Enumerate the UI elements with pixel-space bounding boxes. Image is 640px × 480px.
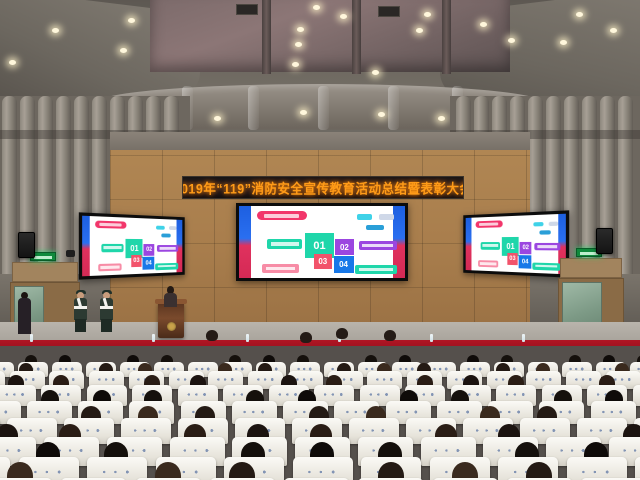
presenter-at-podium (164, 286, 177, 306)
ceiling-beam (352, 0, 361, 74)
audience-row (0, 466, 640, 480)
security-camera (66, 250, 75, 257)
ceiling-downlight (120, 48, 127, 53)
ceiling-downlight (9, 60, 16, 65)
ceiling-downlight (480, 22, 487, 27)
slide-block-04: 04 (334, 256, 354, 273)
presentation-slide: 01 02 03 04 (82, 216, 182, 277)
slide-block-02: 02 (335, 239, 353, 255)
ceiling-speaker-right (596, 228, 613, 254)
ceiling-downlight (424, 12, 431, 17)
led-banner-text: 2019年“119”消防安全宣传教育活动总结暨表彰大会 (182, 177, 464, 198)
slide-edge-left (239, 206, 251, 278)
slide-block-03: 03 (314, 254, 332, 270)
slide-block-02: 02 (520, 242, 531, 255)
vip-attendee (336, 328, 348, 339)
ceiling-downlight (372, 70, 379, 75)
stage-wall-cornice (110, 132, 530, 152)
hvac-vent (236, 4, 258, 15)
ceiling-downlight (128, 18, 135, 23)
soffit-rib (248, 86, 259, 130)
ceiling-beam (262, 0, 271, 74)
slide-tag-pink (262, 264, 299, 273)
ceiling-beam (442, 0, 451, 74)
slide-title-pill (257, 211, 307, 220)
ceiling-speaker-left (18, 232, 35, 258)
seated-audience (0, 346, 640, 480)
ceiling-downlight (52, 28, 59, 33)
vip-attendee (206, 330, 218, 341)
ceiling-downlight (292, 62, 299, 67)
slide-diagram (355, 213, 398, 233)
hvac-vent (378, 6, 400, 17)
door-transom-left (12, 262, 78, 282)
ceiling-downlight (313, 5, 320, 10)
speaker-podium (158, 302, 184, 338)
presentation-slide: 01 02 03 04 (239, 206, 405, 278)
ceiling-downlight (300, 110, 307, 115)
soffit-rib (318, 86, 329, 130)
ceiling-downlight (576, 12, 583, 17)
ceiling-downlight (416, 28, 423, 33)
slide-block-04: 04 (519, 255, 531, 268)
ceiling-downlight (508, 38, 515, 43)
honor-guard-officer (74, 292, 87, 332)
vip-attendee (300, 332, 312, 343)
slide-tag-teal (355, 265, 397, 274)
vip-attendee (384, 330, 396, 341)
ceiling-downlight (214, 116, 221, 121)
center-projection-screen[interactable]: 01 02 03 04 (236, 203, 408, 281)
right-projection-screen[interactable]: 01 02 03 04 (463, 210, 569, 277)
ceiling-downlight (560, 40, 567, 45)
ceiling-downlight (340, 14, 347, 19)
slide-block-03: 03 (507, 253, 518, 266)
door-transom-right (560, 258, 622, 278)
left-projection-screen[interactable]: 01 02 03 04 (79, 212, 185, 279)
ceiling-downlight (378, 112, 385, 117)
honor-guard-officer (100, 292, 113, 332)
ceiling-downlight (297, 27, 304, 32)
podium-emblem (167, 322, 176, 331)
ceiling-downlight (438, 116, 445, 121)
ceiling-downlight (295, 42, 302, 47)
auditorium-photo: 2019年“119”消防安全宣传教育活动总结暨表彰大会 01 02 03 04 (0, 0, 640, 480)
presentation-slide: 01 02 03 04 (466, 214, 566, 275)
slide-block-04: 04 (143, 257, 154, 270)
slide-block-02: 02 (144, 244, 155, 256)
soffit-rib (388, 86, 399, 130)
ceiling-center-coffer (150, 0, 510, 72)
slide-tag-purple (359, 241, 397, 250)
person-standing-left (18, 292, 31, 334)
ceiling-downlight (610, 28, 617, 33)
led-banner: 2019年“119”消防安全宣传教育活动总结暨表彰大会 (182, 176, 464, 199)
slide-tag-green (267, 239, 302, 249)
slide-block-03: 03 (131, 255, 142, 268)
